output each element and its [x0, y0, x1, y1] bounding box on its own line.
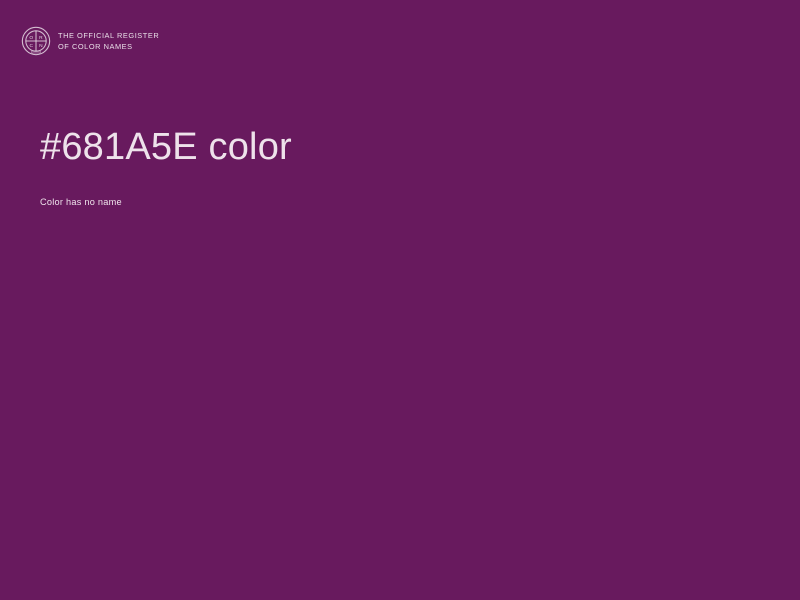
color-name-label: Color has no name	[40, 196, 740, 209]
page-title: #681A5E color	[40, 124, 740, 170]
svg-text:N: N	[39, 43, 43, 49]
register-seal-icon: O R C N	[21, 26, 51, 56]
brand-line-1: THE OFFICIAL REGISTER	[58, 31, 159, 41]
svg-text:C: C	[29, 43, 33, 49]
svg-text:O: O	[29, 35, 33, 41]
brand-wordmark: THE OFFICIAL REGISTER OF COLOR NAMES	[58, 30, 159, 52]
brand-line-2: OF COLOR NAMES	[58, 42, 159, 52]
color-swatch-canvas	[0, 0, 800, 600]
color-info-block: #681A5E color Color has no name	[40, 124, 740, 209]
brand-header[interactable]: O R C N THE OFFICIAL REGISTER OF COLOR N…	[21, 26, 159, 56]
svg-text:R: R	[39, 35, 43, 41]
